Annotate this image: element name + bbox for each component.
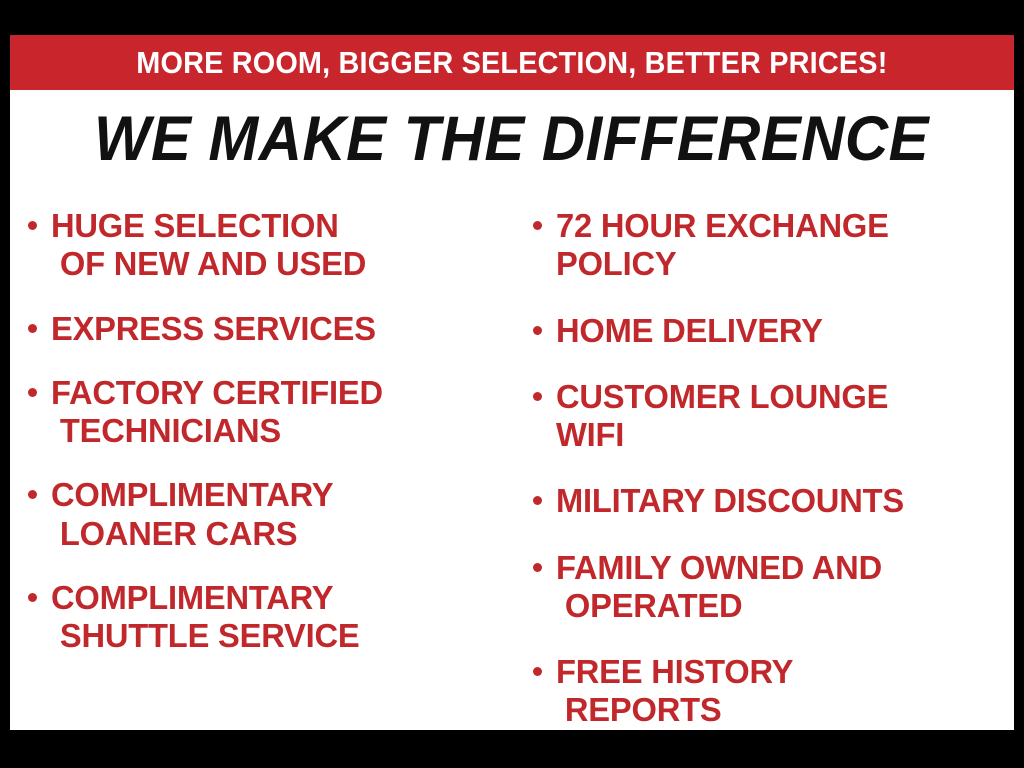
list-item-text: MILITARY DISCOUNTS bbox=[556, 482, 1014, 520]
list-item-line: COMPLIMENTARY bbox=[51, 579, 515, 617]
list-item-line: WIFI bbox=[556, 416, 1009, 454]
list-item-line: 72 HOUR EXCHANGE bbox=[556, 207, 1009, 245]
bullet-dot-icon bbox=[533, 563, 542, 572]
list-item-line: COMPLIMENTARY bbox=[51, 476, 515, 514]
list-item-line: EXPRESS SERVICES bbox=[51, 310, 515, 348]
promo-banner: MORE ROOM, BIGGER SELECTION, BETTER PRIC… bbox=[10, 35, 1014, 90]
list-item: HUGE SELECTION OF NEW AND USED bbox=[28, 207, 520, 284]
features-columns: HUGE SELECTION OF NEW AND USED EXPRESS S… bbox=[10, 190, 1014, 730]
bullet-dot-icon bbox=[533, 667, 542, 676]
list-item-text: EXPRESS SERVICES bbox=[51, 310, 520, 348]
list-item: FAMILY OWNED AND OPERATED bbox=[533, 549, 1014, 626]
list-item: COMPLIMENTARY SHUTTLE SERVICE bbox=[28, 579, 520, 656]
list-item-line: REPORTS bbox=[556, 691, 1009, 729]
bullet-dot-icon bbox=[28, 324, 37, 333]
headline-container: WE MAKE THE DIFFERENCE bbox=[10, 92, 1014, 187]
list-item-line: CUSTOMER LOUNGE bbox=[556, 378, 1009, 416]
bullet-dot-icon bbox=[28, 221, 37, 230]
list-item-text: CUSTOMER LOUNGE WIFI bbox=[556, 378, 1014, 455]
list-item-text: 72 HOUR EXCHANGE POLICY bbox=[556, 207, 1014, 284]
poster-frame: MORE ROOM, BIGGER SELECTION, BETTER PRIC… bbox=[0, 0, 1024, 768]
features-column-right: 72 HOUR EXCHANGE POLICY HOME DELIVERY CU… bbox=[520, 190, 1014, 730]
list-item: FREE HISTORY REPORTS bbox=[533, 653, 1014, 730]
poster-card: MORE ROOM, BIGGER SELECTION, BETTER PRIC… bbox=[10, 35, 1014, 730]
list-item: COMPLIMENTARY LOANER CARS bbox=[28, 476, 520, 553]
list-item-line: FAMILY OWNED AND bbox=[556, 549, 1009, 587]
bullet-dot-icon bbox=[28, 490, 37, 499]
list-item: FACTORY CERTIFIED TECHNICIANS bbox=[28, 374, 520, 451]
list-item-line: FACTORY CERTIFIED bbox=[51, 374, 515, 412]
list-item-line: FREE HISTORY bbox=[556, 653, 1009, 691]
bullet-dot-icon bbox=[28, 593, 37, 602]
list-item-line: OPERATED bbox=[556, 587, 1009, 625]
page-title: WE MAKE THE DIFFERENCE bbox=[94, 108, 929, 171]
list-item: 72 HOUR EXCHANGE POLICY bbox=[533, 207, 1014, 284]
list-item-line: OF NEW AND USED bbox=[51, 245, 515, 283]
list-item: MILITARY DISCOUNTS bbox=[533, 482, 1014, 520]
list-item: EXPRESS SERVICES bbox=[28, 310, 520, 348]
features-column-left: HUGE SELECTION OF NEW AND USED EXPRESS S… bbox=[10, 190, 520, 681]
list-item-text: FACTORY CERTIFIED TECHNICIANS bbox=[51, 374, 520, 451]
list-item-line: HOME DELIVERY bbox=[556, 312, 1009, 350]
bullet-dot-icon bbox=[533, 326, 542, 335]
list-item-text: HUGE SELECTION OF NEW AND USED bbox=[51, 207, 520, 284]
list-item-line: MILITARY DISCOUNTS bbox=[556, 482, 1009, 520]
list-item-text: FREE HISTORY REPORTS bbox=[556, 653, 1014, 730]
bullet-dot-icon bbox=[28, 388, 37, 397]
list-item-line: HUGE SELECTION bbox=[51, 207, 515, 245]
list-item-line: LOANER CARS bbox=[51, 515, 515, 553]
list-item: HOME DELIVERY bbox=[533, 312, 1014, 350]
list-item-line: TECHNICIANS bbox=[51, 412, 515, 450]
list-item: CUSTOMER LOUNGE WIFI bbox=[533, 378, 1014, 455]
promo-banner-text: MORE ROOM, BIGGER SELECTION, BETTER PRIC… bbox=[136, 47, 887, 78]
list-item-text: COMPLIMENTARY SHUTTLE SERVICE bbox=[51, 579, 520, 656]
list-item-line: POLICY bbox=[556, 245, 1009, 283]
list-item-text: HOME DELIVERY bbox=[556, 312, 1014, 350]
list-item-text: COMPLIMENTARY LOANER CARS bbox=[51, 476, 520, 553]
list-item-line: SHUTTLE SERVICE bbox=[51, 617, 515, 655]
bullet-dot-icon bbox=[533, 221, 542, 230]
bullet-dot-icon bbox=[533, 496, 542, 505]
bullet-dot-icon bbox=[533, 392, 542, 401]
list-item-text: FAMILY OWNED AND OPERATED bbox=[556, 549, 1014, 626]
